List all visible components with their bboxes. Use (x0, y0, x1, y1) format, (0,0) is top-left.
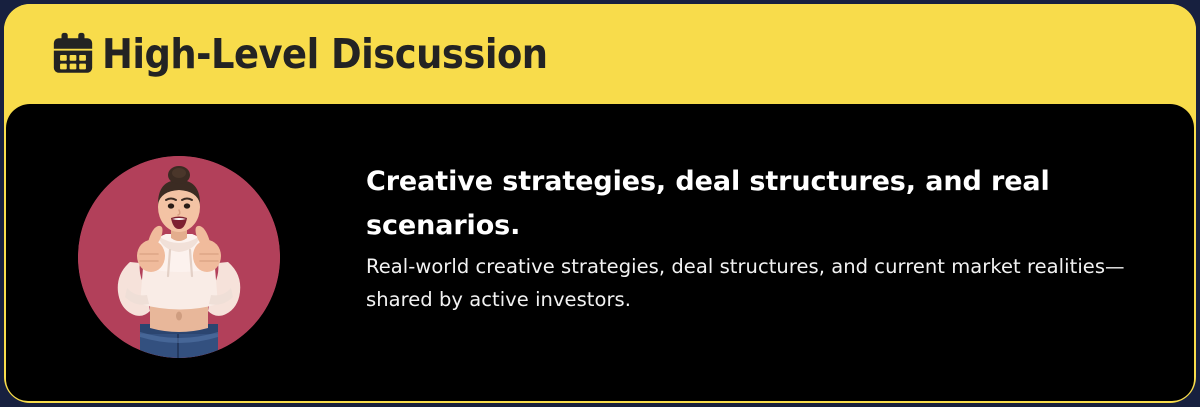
avatar (78, 156, 280, 358)
card-header: High-Level Discussion (4, 4, 1196, 104)
card-body: Creative strategies, deal structures, an… (6, 104, 1194, 401)
page-title: High-Level Discussion (102, 34, 548, 75)
text-block: Creative strategies, deal structures, an… (280, 148, 1154, 317)
subline: Real-world creative strategies, deal str… (366, 251, 1154, 317)
headline: Creative strategies, deal structures, an… (366, 160, 1154, 247)
high-level-discussion-card: High-Level Discussion (4, 4, 1196, 403)
calendar-icon (50, 31, 96, 77)
